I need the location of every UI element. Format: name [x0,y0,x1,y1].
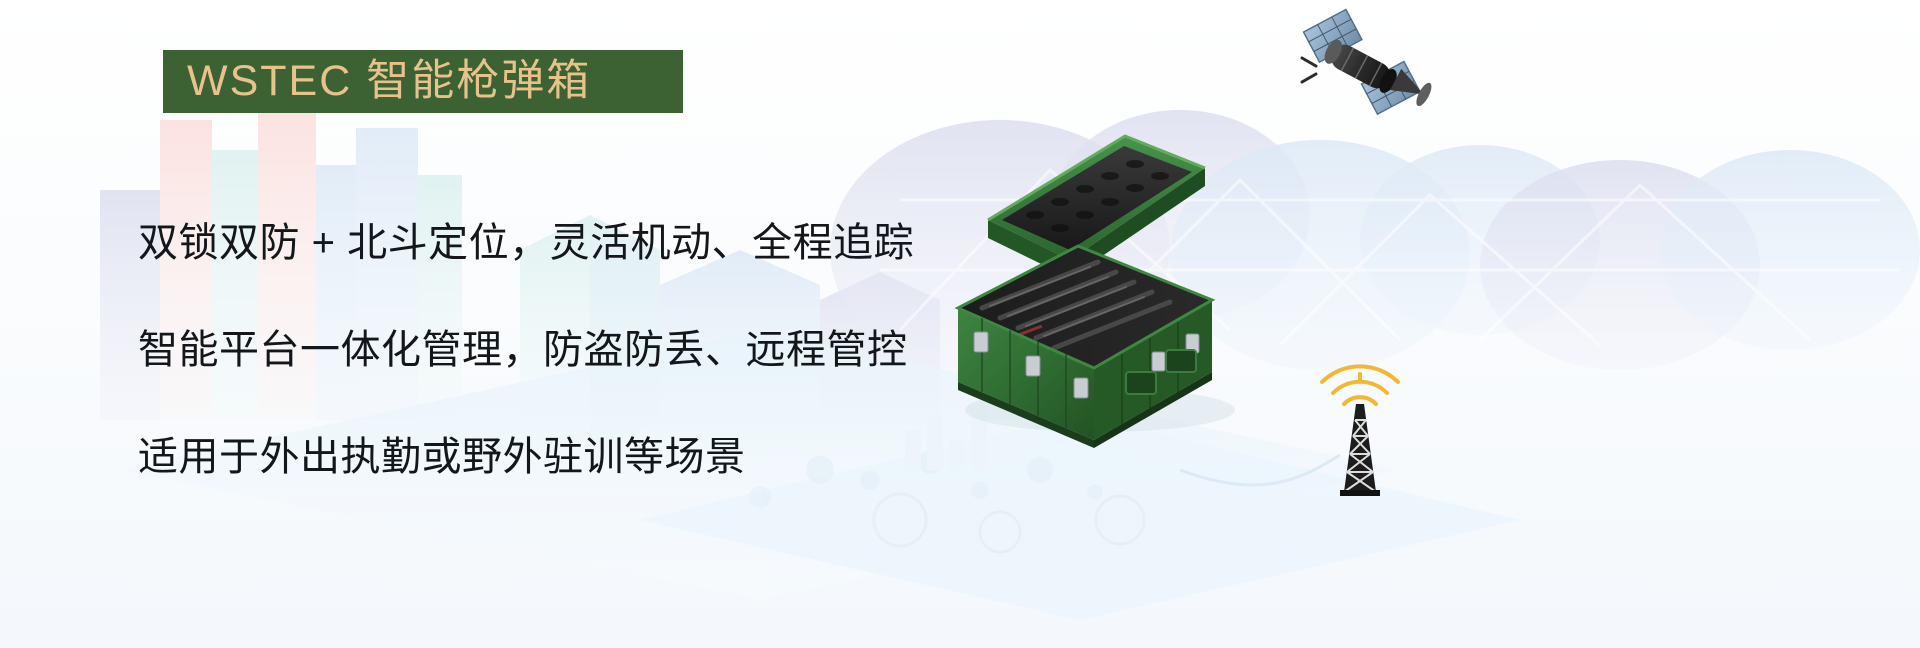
ammunition-case-photo [930,110,1260,470]
satellite-icon [1290,8,1440,128]
page-title: WSTEC 智能枪弹箱 [163,60,591,103]
satellite-graphic [1290,8,1440,128]
radio-tower-graphic [1300,360,1420,500]
radio-tower-icon [1300,360,1420,500]
feature-line-1: 双锁双防 + 北斗定位，灵活机动、全程追踪 [138,190,958,297]
title-banner: WSTEC 智能枪弹箱 [163,50,683,113]
ammunition-case-graphic [930,110,1260,470]
promo-banner: WSTEC 智能枪弹箱 双锁双防 + 北斗定位，灵活机动、全程追踪 智能平台一体… [0,0,1920,648]
feature-line-3: 适用于外出执勤或野外驻训等场景 [138,404,958,511]
feature-list: 双锁双防 + 北斗定位，灵活机动、全程追踪 智能平台一体化管理，防盗防丢、远程管… [138,190,958,511]
feature-line-2: 智能平台一体化管理，防盗防丢、远程管控 [138,297,958,404]
